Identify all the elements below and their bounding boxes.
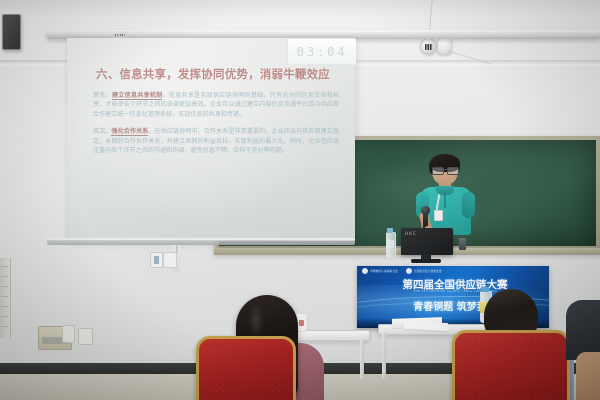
timer-value: 03:04: [297, 44, 348, 59]
wall-mounted-display: [2, 14, 21, 50]
banner-logo-1: 中国物流与采购联合会: [362, 268, 398, 274]
audience-far-right-arm: [576, 352, 600, 400]
ceiling-shadow: [0, 0, 600, 18]
bullet-1-lead: 首先，: [93, 92, 112, 99]
desk-leg: [360, 339, 364, 379]
banquet-chair-left: [196, 336, 296, 400]
podium-clamp: [459, 238, 466, 250]
projection-screen: 六、信息共享，发挥协同优势，消弱牛鞭效应 ◦首先，建立信息共享机制。信息共享是实…: [67, 38, 355, 241]
light-switch[interactable]: [150, 252, 163, 268]
security-camera-icon: [420, 38, 437, 55]
bullet-1-highlight: 建立信息共享机制: [112, 92, 163, 100]
water-bottle-label: [386, 240, 394, 248]
podium-monitor: HKC: [401, 228, 453, 255]
audience-member-far-right: [566, 300, 600, 360]
banner-logo-2: 全国供应链大赛组委会: [406, 268, 442, 274]
water-bottle-desk-cap: [481, 287, 489, 292]
wall-outlet: [78, 328, 93, 345]
bullet-2-highlight: 强化合作关系: [111, 128, 148, 136]
wall-outlet-left: [62, 325, 75, 343]
slide-bullet-2: ◦其次，强化合作关系。在供应链协同中，合作关系是非常重要的。企业应该与供应商建立…: [87, 127, 339, 155]
slide-title: 六、信息共享，发挥协同优势，消弱牛鞭效应: [84, 66, 342, 82]
presenter-sleeve-right: [462, 192, 475, 218]
organization-logo-icon: [362, 268, 368, 274]
bullet-marker-icon: ◦: [87, 92, 90, 101]
countdown-timer: 03:04: [287, 39, 356, 64]
audience-left-hair-highlight: [248, 303, 264, 337]
monitor-base: [411, 259, 441, 263]
banner-logo-2-text: 全国供应链大赛组委会: [414, 269, 442, 273]
classroom-presentation-photo: 六、信息共享，发挥协同优势，消弱牛鞭效应 ◦首先，建立信息共享机制。信息共享是实…: [0, 0, 600, 400]
organization-logo-icon: [406, 268, 412, 274]
wall-vent: [0, 258, 11, 338]
presenter-badge: [434, 210, 443, 221]
bullet-marker-icon: ◦: [87, 128, 90, 137]
light-switch-secondary[interactable]: [163, 252, 177, 268]
slide-bullet-1: ◦首先，建立信息共享机制。信息共享是实现供应链协同的基础。只有充分的信息交流和共…: [87, 91, 339, 119]
screen-bottom-bar: [47, 240, 355, 245]
glasses-icon: [432, 167, 458, 173]
banquet-chair-right: [452, 330, 570, 400]
banner-logo-row: 中国物流与采购联合会 全国供应链大赛组委会: [362, 268, 442, 274]
water-bottle-cap: [387, 228, 393, 233]
monitor-brand-label: HKC: [405, 232, 417, 237]
microphone-head-icon: [421, 206, 430, 215]
slide-bullet-list: ◦首先，建立信息共享机制。信息共享是实现供应链协同的基础。只有充分的信息交流和共…: [87, 91, 339, 163]
bullet-2-lead: 其次，: [93, 128, 111, 135]
presenter-shirt-placket: [444, 192, 446, 208]
banner-logo-1-text: 中国物流与采购联合会: [370, 269, 398, 273]
desk-leg: [382, 333, 386, 379]
